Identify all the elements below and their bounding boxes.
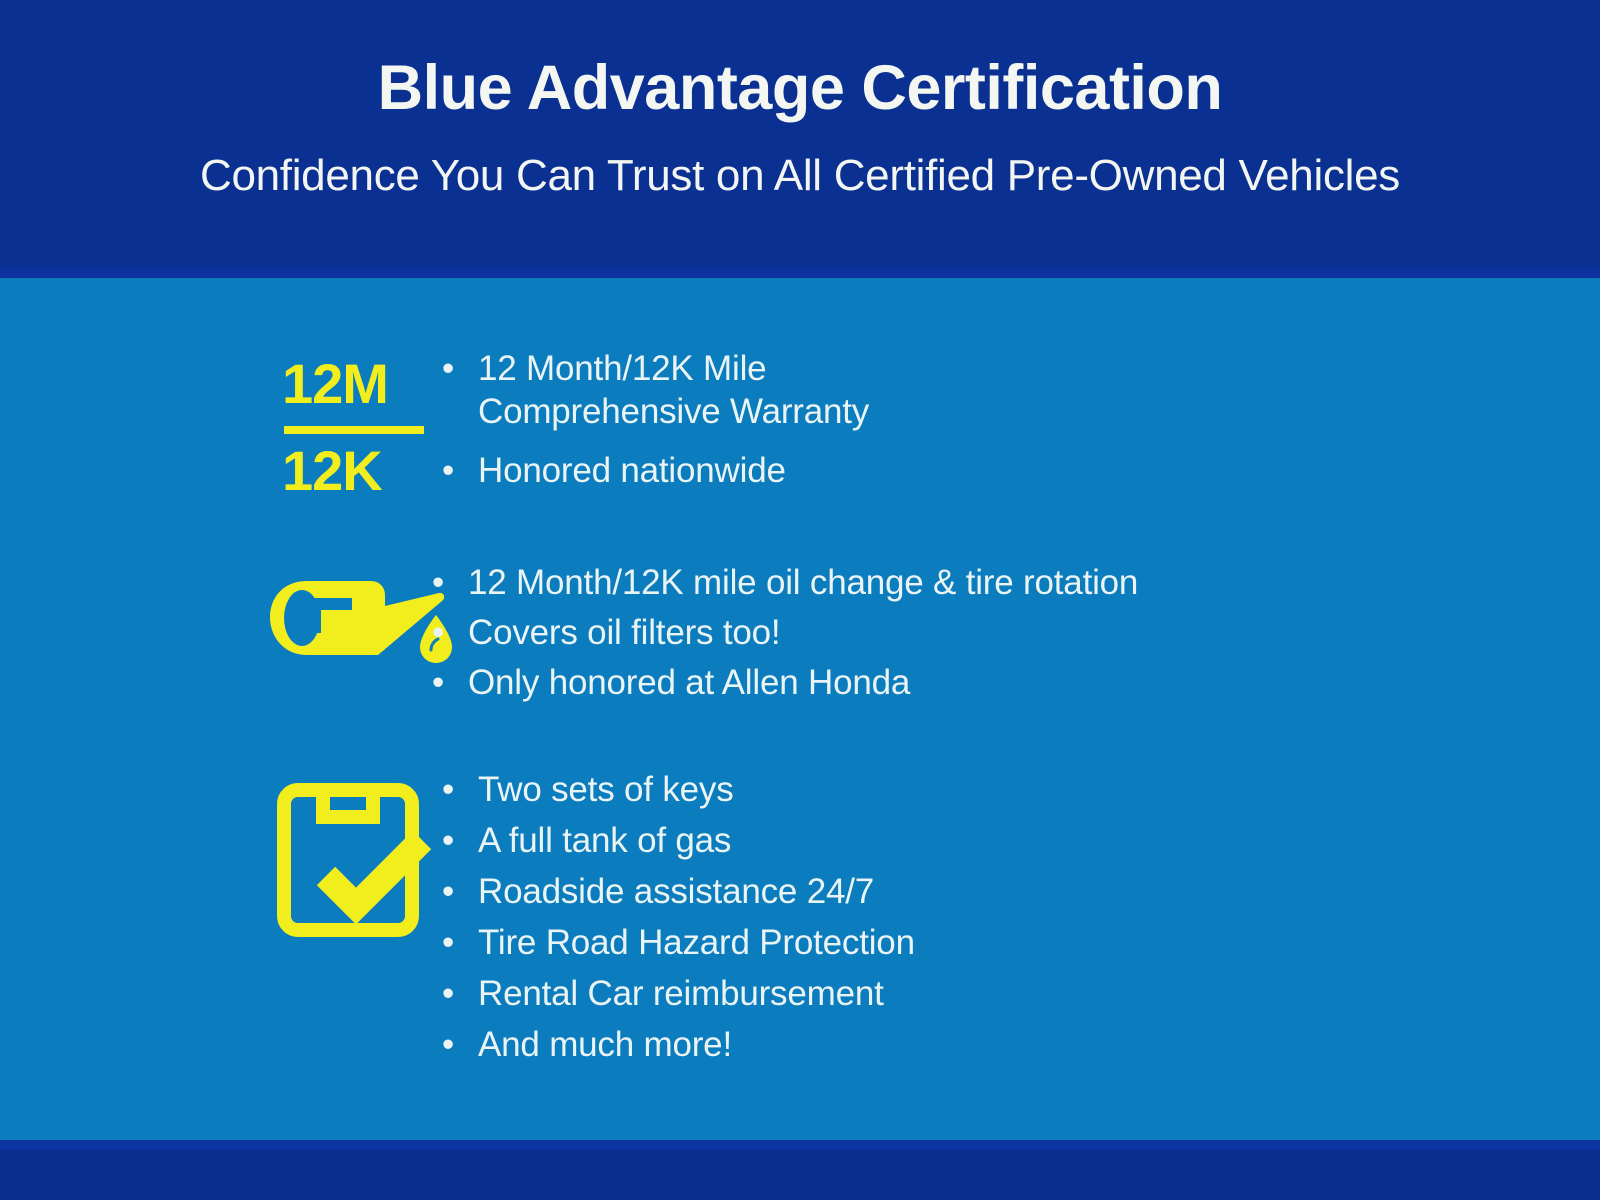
blue-advantage-certification-poster: Blue Advantage Certification Confidence … bbox=[0, 0, 1600, 1200]
list-item: Covers oil filters too! bbox=[430, 615, 1540, 650]
list-item: A full tank of gas bbox=[440, 823, 1520, 858]
list-item: Two sets of keys bbox=[440, 772, 1520, 807]
header-band-edge bbox=[0, 269, 1600, 278]
list-item: 12 Month/12K Mile Comprehensive Warranty bbox=[440, 348, 1520, 433]
page-subtitle: Confidence You Can Trust on All Certifie… bbox=[0, 152, 1600, 200]
list-item: Roadside assistance 24/7 bbox=[440, 874, 1520, 909]
12m-12k-fraction-icon: 12M 12K bbox=[270, 348, 420, 508]
feature-row-warranty: 12M 12K 12 Month/12K Mile Comprehensive … bbox=[270, 348, 1520, 508]
list-item: Honored nationwide bbox=[440, 453, 1520, 488]
page-title: Blue Advantage Certification bbox=[0, 55, 1600, 121]
clipboard-check-svg bbox=[270, 772, 440, 942]
list-item: Only honored at Allen Honda bbox=[430, 665, 1540, 700]
feature-icon-slot: 12M 12K bbox=[270, 348, 440, 508]
clipboard-check-icon bbox=[270, 772, 440, 942]
feature-icon-slot bbox=[260, 565, 430, 675]
feature-row-extras: Two sets of keys A full tank of gas Road… bbox=[270, 772, 1520, 1078]
fraction-bar bbox=[284, 426, 424, 434]
footer-band-edge bbox=[0, 1140, 1600, 1150]
feature-icon-slot bbox=[270, 772, 440, 942]
list-item: Rental Car reimbursement bbox=[440, 976, 1520, 1011]
header-band bbox=[0, 0, 1600, 269]
list-item: Tire Road Hazard Protection bbox=[440, 925, 1520, 960]
footer-band bbox=[0, 1150, 1600, 1200]
bullet-list-extras: Two sets of keys A full tank of gas Road… bbox=[440, 772, 1520, 1078]
fraction-numerator: 12M bbox=[282, 356, 388, 412]
fraction-denominator: 12K bbox=[282, 443, 382, 499]
list-item: And much more! bbox=[440, 1027, 1520, 1062]
feature-row-maintenance: 12 Month/12K mile oil change & tire rota… bbox=[260, 565, 1540, 715]
bullet-list-maintenance: 12 Month/12K mile oil change & tire rota… bbox=[430, 565, 1540, 715]
bullet-list-warranty: 12 Month/12K Mile Comprehensive Warranty… bbox=[440, 348, 1520, 508]
list-item: 12 Month/12K mile oil change & tire rota… bbox=[430, 565, 1540, 600]
